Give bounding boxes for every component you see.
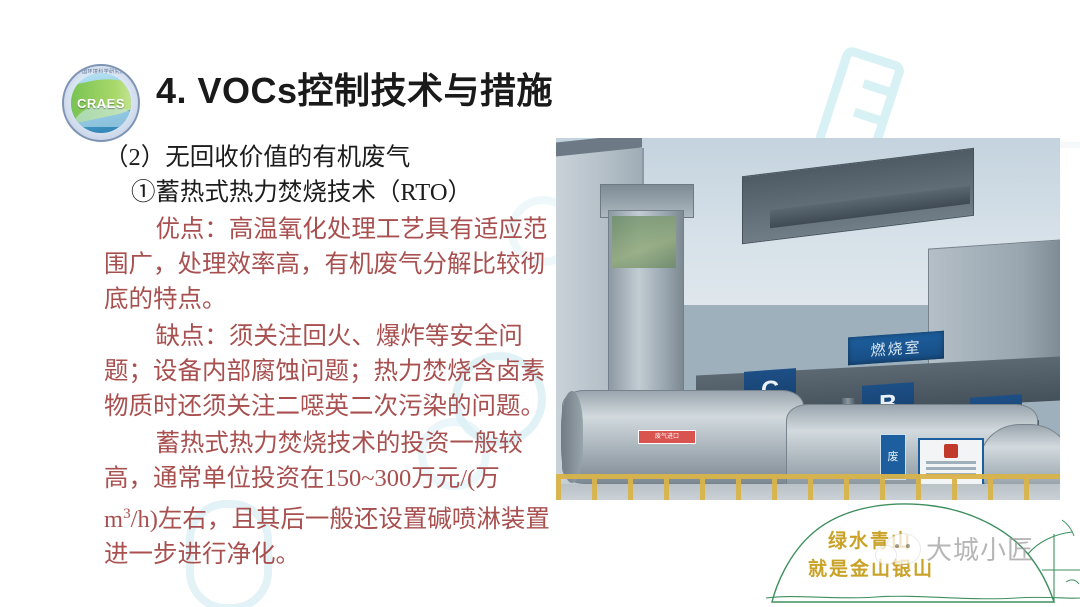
stone-text-line2: 就是金山银山: [808, 554, 934, 581]
rto-facility-photo: R T O 废 气 治 理 系 燃烧室 C B A 废气进口 废: [556, 138, 1060, 500]
photo-blue-banner: R T O 废 气 治 理 系: [748, 279, 1060, 284]
photo-banner-clip: R T O 废 气 治 理 系: [652, 220, 1060, 284]
watermark-text: 大城小匠: [926, 530, 1034, 567]
heading-level-2: ①蓄热式热力焚烧技术（RTO）: [104, 175, 556, 210]
notice-emblem-icon: [944, 444, 958, 458]
notice-line: [926, 467, 976, 470]
photo-duct-direction-tag: 废气进口: [638, 430, 696, 444]
disadvantages-paragraph: 缺点：须关注回火、爆炸等安全问题；设备内部腐蚀问题；热力焚烧含卤素物质时还须关注…: [104, 319, 556, 424]
cubic-exponent: 3: [123, 505, 131, 522]
craes-logo: 中国环境科学研究院 CRAES: [62, 64, 140, 142]
photo-yellow-railing: [556, 474, 1060, 500]
advantages-paragraph: 优点：高温氧化处理工艺具有适应范围广，处理效率高，有机废气分解比较彻底的特点。: [104, 212, 556, 317]
stone-illustration: [766, 498, 1080, 607]
logo-acronym: CRAES: [64, 96, 138, 111]
heading-level-1: （2）无回收价值的有机废气: [104, 140, 556, 175]
page-title: 4. VOCs控制技术与措施: [156, 62, 553, 114]
notice-line: [926, 461, 976, 464]
photo-duct-cap: [561, 391, 583, 483]
cost-text-part2: /h)左右，且其后一般还设置碱喷淋装置进一步进行净化。: [104, 506, 550, 568]
stone-text-line1: 绿水青山: [828, 526, 912, 553]
body-content: （2）无回收价值的有机废气 ①蓄热式热力焚烧技术（RTO） 优点：高温氧化处理工…: [104, 140, 556, 572]
cost-paragraph: 蓄热式热力焚烧技术的投资一般较高，通常单位投资在150~300万元/(万 m3/…: [104, 426, 556, 572]
slide-canvas: 中国环境科学研究院 CRAES 4. VOCs控制技术与措施 （2）无回收价值的…: [0, 0, 1080, 607]
